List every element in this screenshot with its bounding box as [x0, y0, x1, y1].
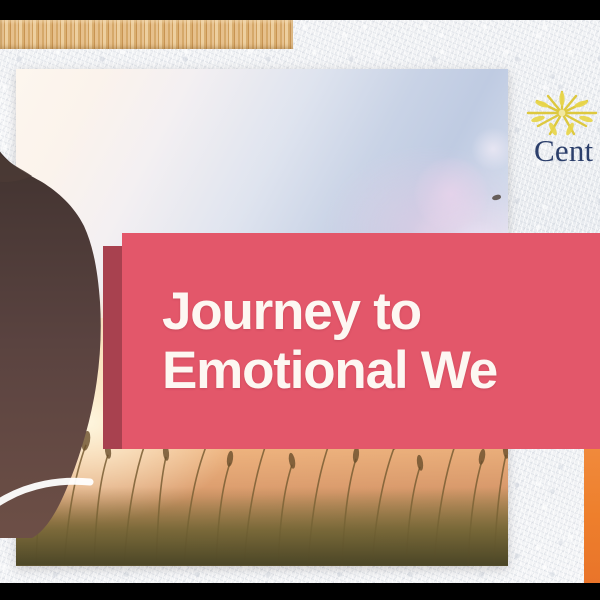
logo-wordmark: Cent	[534, 134, 593, 168]
title-banner: Journey to Emotional We	[122, 233, 600, 449]
sun-starburst-icon	[524, 86, 600, 140]
title-line-2: Emotional We	[162, 341, 600, 400]
orange-accent-strip	[584, 448, 600, 583]
letterbox-bottom-bar	[0, 583, 600, 600]
bamboo-texture-strip	[0, 20, 293, 49]
title-line-1: Journey to	[162, 282, 600, 341]
letterbox-top-bar	[0, 0, 600, 20]
page-title: Journey to Emotional We	[162, 282, 600, 400]
brand-logo: Cent	[524, 86, 600, 176]
slide-canvas: Journey to Emotional We	[0, 20, 600, 583]
video-frame: Journey to Emotional We	[0, 0, 600, 600]
